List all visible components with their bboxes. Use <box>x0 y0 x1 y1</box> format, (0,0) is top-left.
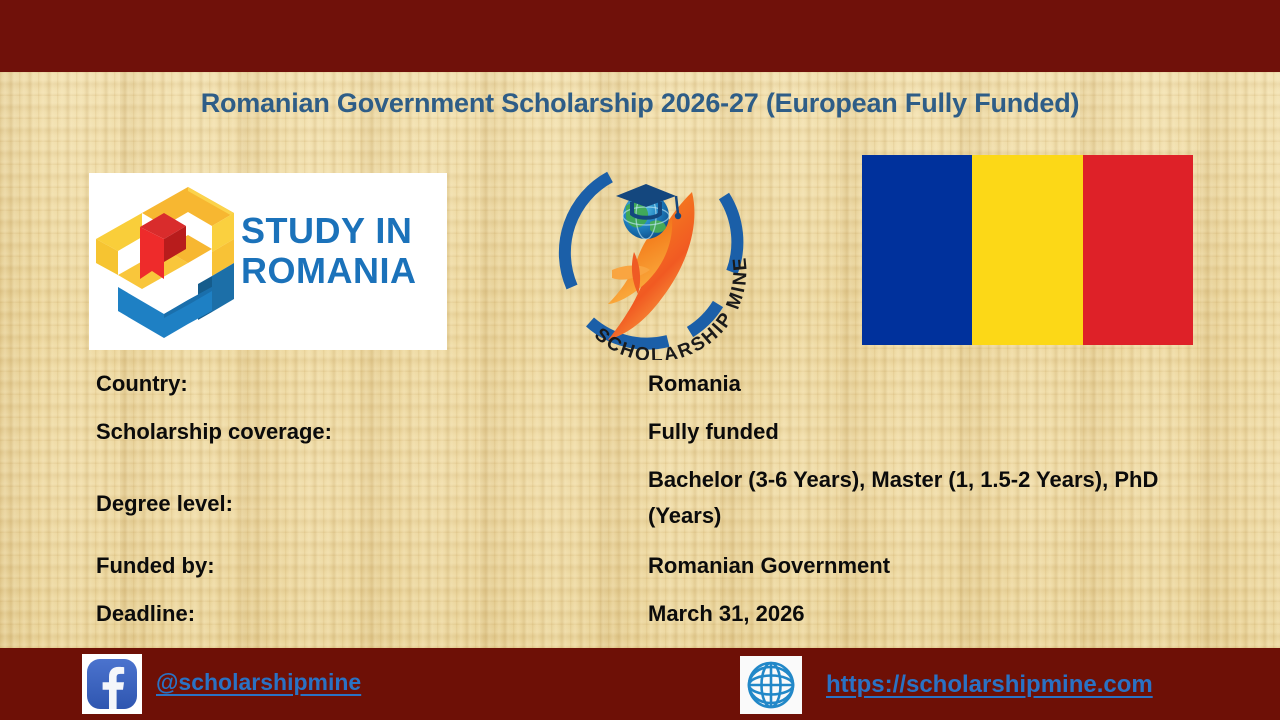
page-title: Romanian Government Scholarship 2026-27 … <box>0 88 1280 119</box>
detail-label-scholarship-coverage: Scholarship coverage: <box>96 414 648 450</box>
facebook-handle-link[interactable]: @scholarshipmine <box>156 669 361 696</box>
romania-flag <box>862 155 1193 345</box>
detail-value-funded-by: Romanian Government <box>648 548 890 584</box>
detail-value-deadline: March 31, 2026 <box>648 596 805 632</box>
study-in-romania-line-1: STUDY IN <box>241 211 416 251</box>
table-row: Country: Romania <box>0 366 1280 414</box>
detail-label-funded-by: Funded by: <box>96 548 648 584</box>
table-row: Scholarship coverage: Fully funded <box>0 414 1280 462</box>
facebook-icon[interactable] <box>82 654 142 714</box>
globe-icon[interactable] <box>740 656 802 714</box>
detail-label-degree-level: Degree level: <box>96 462 648 522</box>
detail-label-deadline: Deadline: <box>96 596 648 632</box>
study-in-romania-hexagon-mark <box>94 187 234 339</box>
detail-value-scholarship-coverage: Fully funded <box>648 414 779 450</box>
table-row: Funded by: Romanian Government <box>0 548 1280 596</box>
top-banner-bar <box>0 0 1280 72</box>
study-in-romania-logo-card: STUDY IN ROMANIA <box>89 173 447 350</box>
study-in-romania-line-2: ROMANIA <box>241 251 416 291</box>
detail-label-country: Country: <box>96 366 648 402</box>
table-row: Deadline: March 31, 2026 <box>0 596 1280 644</box>
detail-value-country: Romania <box>648 366 741 402</box>
detail-value-degree-level: Bachelor (3-6 Years), Master (1, 1.5-2 Y… <box>648 462 1193 534</box>
scholarship-details-table: Country: Romania Scholarship coverage: F… <box>0 366 1280 644</box>
flag-stripe-yellow <box>972 155 1082 345</box>
website-url-link[interactable]: https://scholarshipmine.com <box>826 671 1153 699</box>
table-row: Degree level: Bachelor (3-6 Years), Mast… <box>0 462 1280 548</box>
globe-wireframe-icon <box>746 660 796 710</box>
scholarship-poster: Romanian Government Scholarship 2026-27 … <box>0 0 1280 720</box>
flag-stripe-red <box>1083 155 1193 345</box>
flag-stripe-blue <box>862 155 972 345</box>
scholarship-mine-logo: SCHOLARSHIP MINE <box>550 152 758 360</box>
study-in-romania-wordmark: STUDY IN ROMANIA <box>241 211 416 291</box>
